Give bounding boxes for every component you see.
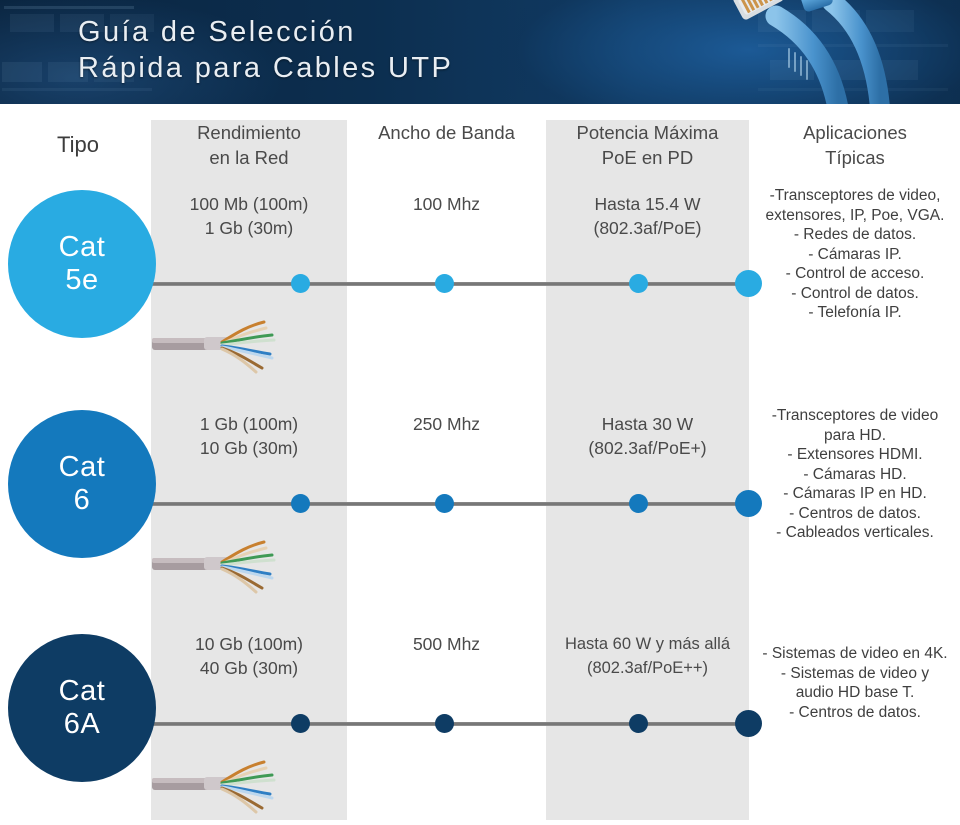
utp-cable-icon (152, 530, 282, 594)
utp-cable-icon (152, 750, 282, 814)
cell-rendimiento: 100 Mb (100m) 1 Gb (30m) (151, 192, 347, 240)
cell-rendimiento: 1 Gb (100m) 10 Gb (30m) (151, 412, 347, 460)
cable-type-badge-cat6a[interactable]: Cat 6A (8, 634, 156, 782)
cable-type-badge-cat6[interactable]: Cat 6 (8, 410, 156, 558)
cell-ancho-de-banda: 500 Mhz (349, 632, 544, 656)
table-row: Cat 5e 100 Mb (100m) 1 Gb (30m) 100 Mhz … (0, 170, 960, 385)
column-header-aplicaciones: Aplicaciones Típicas (752, 120, 958, 170)
cell-aplicaciones: - Sistemas de video en 4K. - Sistemas de… (750, 644, 960, 722)
column-header-rendimiento: Rendimiento en la Red (151, 120, 347, 170)
column-header-tipo: Tipo (8, 132, 148, 157)
rj45-cable-illustration (680, 0, 960, 104)
page-title: Guía de Selección Rápida para Cables UTP (78, 14, 453, 86)
cable-type-badge-cat5e[interactable]: Cat 5e (8, 190, 156, 338)
cell-potencia: Hasta 30 W (802.3af/PoE+) (546, 412, 749, 460)
cell-potencia: Hasta 15.4 W (802.3af/PoE) (546, 192, 749, 240)
milestone-dot (291, 714, 310, 733)
milestone-dot (435, 494, 454, 513)
column-header-ancho-de-banda: Ancho de Banda (349, 120, 544, 145)
table-row: Cat 6A 10 Gb (100m) 40 Gb (30m) 500 Mhz … (0, 610, 960, 825)
milestone-dot (435, 274, 454, 293)
cell-potencia: Hasta 60 W y más allá (802.3af/PoE++) (546, 632, 749, 680)
milestone-dot (291, 274, 310, 293)
cell-ancho-de-banda: 250 Mhz (349, 412, 544, 436)
milestone-dot (629, 714, 648, 733)
milestone-dot (629, 274, 648, 293)
cell-rendimiento: 10 Gb (100m) 40 Gb (30m) (151, 632, 347, 680)
cell-aplicaciones: -Transceptores de video, extensores, IP,… (750, 186, 960, 323)
table-row: Cat 6 1 Gb (100m) 10 Gb (30m) 250 Mhz Ha… (0, 390, 960, 605)
milestone-dot (291, 494, 310, 513)
comparison-table: Tipo Rendimiento en la Red Ancho de Band… (0, 104, 960, 820)
cell-ancho-de-banda: 100 Mhz (349, 192, 544, 216)
column-header-potencia-maxima: Potencia Máxima PoE en PD (546, 120, 749, 170)
header-banner: Guía de Selección Rápida para Cables UTP (0, 0, 960, 104)
utp-cable-icon (152, 310, 282, 374)
milestone-dot (629, 494, 648, 513)
cell-aplicaciones: -Transceptores de video para HD. - Exten… (750, 406, 960, 543)
milestone-dot (435, 714, 454, 733)
